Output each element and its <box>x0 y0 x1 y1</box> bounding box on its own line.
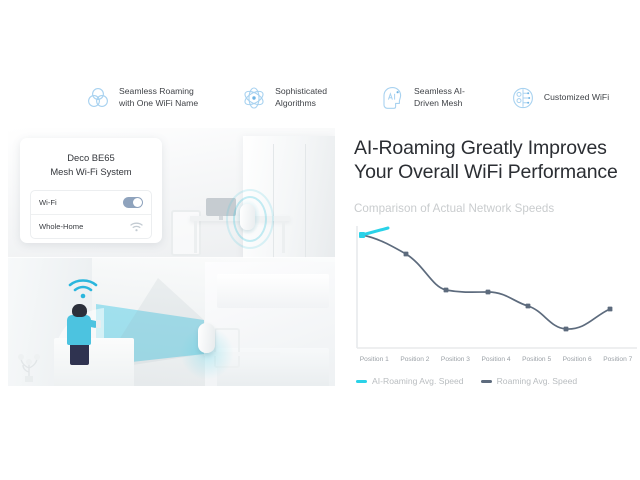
data-point <box>486 290 491 295</box>
feature-label: Seamless AI- Driven Mesh <box>414 86 465 109</box>
data-point <box>608 307 613 312</box>
x-tick-label: Position 7 <box>597 356 638 363</box>
settings-row-label: Wi-Fi <box>39 198 57 207</box>
feature-item-seamless-roaming: Seamless Roaming with One WiFi Name <box>84 84 198 112</box>
page-title: AI-Roaming Greatly Improves Your Overall… <box>354 136 638 184</box>
settings-row-label: Whole-Home <box>39 222 83 231</box>
person-legs <box>70 343 89 365</box>
photo-scene-bottom <box>8 258 335 386</box>
data-point <box>444 288 449 293</box>
series-roaming-line <box>362 235 610 329</box>
feature-item-sophisticated-algorithms: Sophisticated Algorithms <box>240 84 327 112</box>
wifi-toggle[interactable] <box>123 197 143 208</box>
chart-subtitle: Comparison of Actual Network Speeds <box>354 202 554 215</box>
x-tick-label: Position 2 <box>395 356 436 363</box>
phone <box>96 320 101 328</box>
legend-label: Roaming Avg. Speed <box>497 376 578 386</box>
product-lifestyle-photo: Deco BE65 Mesh Wi-Fi System Wi-Fi Whole-… <box>8 128 335 386</box>
feature-label: Seamless Roaming with One WiFi Name <box>119 86 198 109</box>
settings-list: Wi-Fi Whole-Home <box>30 190 152 239</box>
data-point <box>526 304 531 309</box>
data-point <box>564 327 569 332</box>
feature-label: Sophisticated Algorithms <box>275 86 327 109</box>
legend-label: AI-Roaming Avg. Speed <box>372 376 464 386</box>
atom-icon <box>240 84 268 112</box>
legend-swatch-icon <box>356 380 367 383</box>
legend-item-roaming[interactable]: Roaming Avg. Speed <box>481 376 578 386</box>
plant <box>14 346 44 382</box>
brain-circuit-icon <box>509 84 537 112</box>
x-tick-label: Position 6 <box>557 356 598 363</box>
chart-svg <box>354 224 638 352</box>
feature-strip: Seamless Roaming with One WiFi Name Soph… <box>0 74 640 122</box>
wifi-icon <box>67 278 99 300</box>
data-point <box>359 232 365 238</box>
feature-item-seamless-ai-driven-mesh: Seamless AI- Driven Mesh <box>379 84 465 112</box>
ai-head-icon <box>379 84 407 112</box>
product-subtitle: Mesh Wi-Fi System <box>20 165 162 179</box>
legend-item-ai-roaming[interactable]: AI-Roaming Avg. Speed <box>356 376 464 386</box>
x-tick-label: Position 5 <box>516 356 557 363</box>
speed-comparison-chart <box>354 224 638 352</box>
deco-device <box>240 204 255 230</box>
x-tick-label: Position 4 <box>476 356 517 363</box>
chart-x-axis-labels: Position 1 Position 2 Position 3 Positio… <box>354 356 638 363</box>
settings-row-whole-home[interactable]: Whole-Home <box>31 214 151 238</box>
mesh-circles-icon <box>84 84 112 112</box>
feature-item-customized-wifi: Customized WiFi <box>509 84 609 112</box>
deco-device-bottom <box>198 323 215 353</box>
wifi-signal-icon <box>130 222 143 232</box>
deco-app-card: Deco BE65 Mesh Wi-Fi System Wi-Fi Whole-… <box>20 138 162 243</box>
chart-legend: AI-Roaming Avg. Speed Roaming Avg. Speed <box>356 376 577 386</box>
legend-swatch-icon <box>481 380 492 383</box>
x-tick-label: Position 1 <box>354 356 395 363</box>
counter <box>54 338 134 386</box>
series-ai-roaming-line <box>362 228 388 235</box>
x-tick-label: Position 3 <box>435 356 476 363</box>
settings-row-wifi[interactable]: Wi-Fi <box>31 191 151 214</box>
feature-label: Customized WiFi <box>544 92 609 104</box>
product-name: Deco BE65 <box>20 151 162 165</box>
product-banner: Seamless Roaming with One WiFi Name Soph… <box>0 0 640 480</box>
data-point <box>404 252 409 257</box>
person-head <box>72 304 87 317</box>
